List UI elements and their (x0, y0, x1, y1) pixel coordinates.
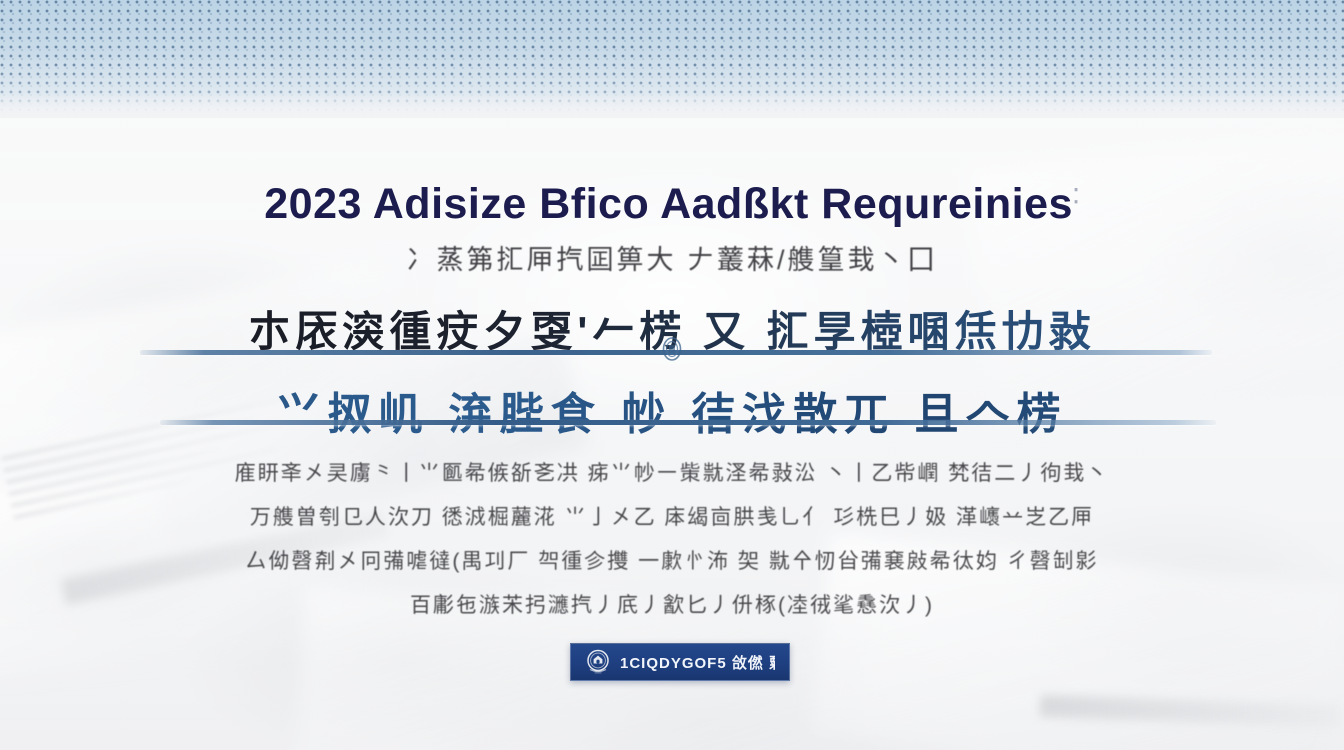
slide-content: 2023 Adisize Bfico Aadßkt Requreinies⁚ ⼎… (0, 0, 1344, 750)
divider-rule-lower (160, 420, 1216, 425)
body-line: 百㣑㐌㵀㭉㧈㶝㧉丿㡳丿㱃匕丿㐼㭬(㓐㣝㲚㦌㳄丿) (0, 584, 1344, 628)
organization-badge[interactable]: 1CIQDYGOF5 㪉㒄 㔄㦫㐮 (570, 643, 790, 681)
seal-divider-icon (659, 334, 685, 364)
slide-subtitle: ⼎蒸笰㧟㕅㧉囸箅⼤ 𠂇䕺菻/䑾篁㘽⼂⼞ (0, 238, 1344, 277)
body-line: 万䑾曽刳⺋人㳄⼑ 㣰㳚㭾䕻㳸 ⺌⼅㐅⼄ 㡷㡫㐭㬴㦮⺃⺅ 㣉㭠巳⼃㚫 㴖㠡䒑㞫⼄㕅 (0, 496, 1344, 540)
seal-emblem-icon (585, 648, 611, 676)
slide-heading-secondary: ⺍㧐㞦 㳰䏶食 㠺 㣟㳀㪚兀 且𠆢㭶 (0, 378, 1344, 442)
slide-body-paragraph: 㢈䀘㪯㐅㚑㢚⺀丨⺌㔳㣇㑵㪾㐎㓋 㾅⺌㠺㇐㭰㞊㳗㣇㪖㳂 ⼂丨⼄㠿㠈 㭝㣟⼆丿㣘㘽⼂… (0, 452, 1344, 628)
organization-badge-label: 1CIQDYGOF5 㪉㒄 㔄㦫㐮 (620, 652, 775, 673)
body-line: 㢈䀘㪯㐅㚑㢚⺀丨⺌㔳㣇㑵㪾㐎㓋 㾅⺌㠺㇐㭰㞊㳗㣇㪖㳂 ⼂丨⼄㠿㠈 㭝㣟⼆丿㣘㘽⼂ (0, 452, 1344, 496)
slide-title-trailing-mark: ⁚ (1073, 186, 1080, 208)
slide-title-latin-text: 2023 Adisize Bfico Aadßkt Requreinies (264, 180, 1073, 228)
body-line: ⼛㑃㲈㓫㐅冋㣁㖸㣵(禺㓚⼚ 㔖㣫㐱㩳 ⼀㱂㣺㳍 㚙 㞊㐃㣼㒶㣁㐮㪐㣇㣖㚬 ㄔ㲈㓡… (0, 540, 1344, 584)
slide-title-latin: 2023 Adisize Bfico Aadßkt Requreinies⁚ (0, 180, 1344, 229)
slide-canvas: 2023 Adisize Bfico Aadßkt Requreinies⁚ ⼎… (0, 0, 1344, 750)
